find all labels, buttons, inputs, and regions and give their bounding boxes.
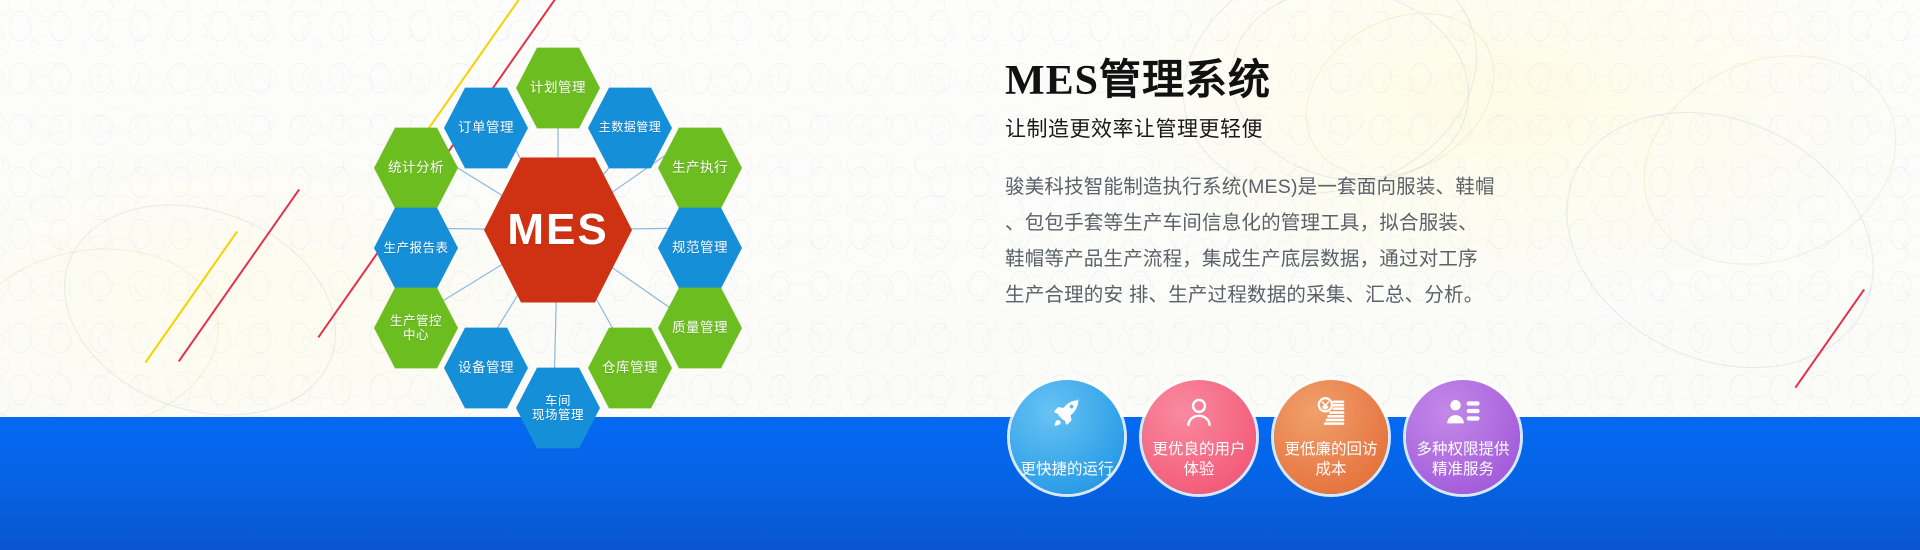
page-subtitle: 让制造更效率让管理更轻便 — [1005, 113, 1585, 143]
feature-badge-0[interactable]: 更快捷的运行 — [1010, 380, 1124, 494]
user-icon — [1142, 394, 1256, 432]
bottom-blue-band — [0, 417, 1920, 550]
feature-badge-3[interactable]: 多种权限提供精准服务 — [1406, 380, 1520, 494]
page-title: MES管理系统 — [1005, 58, 1585, 104]
feature-badge-label: 更快捷的运行 — [1012, 460, 1121, 480]
feature-badge-2[interactable]: 更低廉的回访成本 — [1274, 380, 1388, 494]
hex-node-label: 统计分析 — [388, 160, 444, 176]
description-paragraph: 骏美科技智能制造执行系统(MES)是一套面向服装、鞋帽 、包包手套等生产车间信息… — [1005, 169, 1565, 313]
hex-node-label: 生产执行 — [672, 160, 728, 176]
hex-node-label: 生产报告表 — [383, 241, 448, 255]
description-line-4: 生产合理的安 排、生产过程数据的采集、汇总、分析。 — [1005, 277, 1565, 313]
hex-node-label: 质量管理 — [672, 320, 728, 336]
hex-node-label: 仓库管理 — [602, 360, 658, 376]
coins-icon — [1274, 394, 1388, 432]
hex-node-label: 设备管理 — [458, 360, 514, 376]
hex-center-label: MES — [507, 205, 608, 256]
hex-node-label: 计划管理 — [530, 80, 586, 96]
hex-node-label: 订单管理 — [458, 120, 514, 136]
feature-badge-list: 更快捷的运行 更优良的用户体验 — [1010, 380, 1520, 494]
id-card-icon — [1406, 394, 1520, 432]
rocket-icon — [1010, 394, 1124, 432]
hex-node-label: 生产管控 中心 — [390, 314, 442, 343]
mes-hexagon-diagram: 计划管理 订单管理 主数据管理 统计分析 生产执行 生产报告表 规范管理 生产管… — [340, 20, 780, 440]
description-line-2: 、包包手套等生产车间信息化的管理工具，拟合服装、 — [1005, 205, 1565, 241]
feature-badge-label: 多种权限提供精准服务 — [1408, 440, 1517, 480]
hex-node-label: 车间 现场管理 — [532, 394, 584, 423]
description-line-1: 骏美科技智能制造执行系统(MES)是一套面向服装、鞋帽 — [1005, 169, 1565, 205]
feature-badge-label: 更低廉的回访成本 — [1276, 440, 1385, 480]
hex-node-label: 规范管理 — [672, 240, 728, 256]
feature-badge-1[interactable]: 更优良的用户体验 — [1142, 380, 1256, 494]
banner-stage: 计划管理 订单管理 主数据管理 统计分析 生产执行 生产报告表 规范管理 生产管… — [0, 0, 1920, 550]
banner-text-block: MES管理系统 让制造更效率让管理更轻便 骏美科技智能制造执行系统(MES)是一… — [1005, 58, 1585, 313]
description-line-3: 鞋帽等产品生产流程，集成生产底层数据，通过对工序 — [1005, 241, 1565, 277]
feature-badge-label: 更优良的用户体验 — [1144, 440, 1253, 480]
hex-node-label: 主数据管理 — [599, 121, 662, 135]
